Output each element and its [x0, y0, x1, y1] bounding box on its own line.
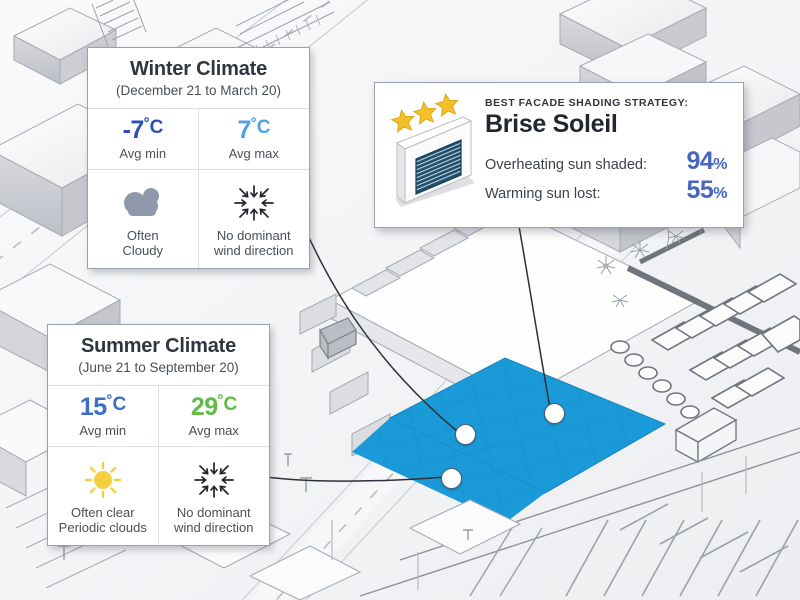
- sun-icon: [52, 458, 154, 502]
- winter-sky-line1: Often: [92, 229, 194, 244]
- strategy-eyebrow: BEST FACADE SHADING STRATEGY:: [485, 97, 727, 109]
- summer-card-subtitle: (June 21 to September 20): [58, 360, 259, 376]
- summer-climate-card[interactable]: Summer Climate (June 21 to September 20)…: [47, 324, 270, 546]
- winter-avg-min-value: -7˚C: [92, 118, 194, 143]
- strategy-body: BEST FACADE SHADING STRATEGY: Brise Sole…: [483, 83, 743, 217]
- winter-sky-cell: Often Cloudy: [88, 170, 199, 268]
- summer-card-title: Summer Climate: [58, 335, 259, 357]
- summer-wind-cell: No dominant wind direction: [159, 447, 270, 545]
- metric-value: 55%: [686, 178, 727, 203]
- summer-sky-line1: Often clear: [52, 506, 154, 521]
- winter-card-subtitle: (December 21 to March 20): [98, 83, 299, 99]
- summer-avg-min-value: 15˚C: [52, 395, 154, 420]
- summer-wind-line1: No dominant: [163, 506, 266, 521]
- metric-label: Warming sun lost:: [485, 186, 601, 202]
- winter-wind-line1: No dominant: [203, 229, 306, 244]
- winter-wind-cell: No dominant wind direction: [199, 170, 310, 268]
- winter-avg-max-label: Avg max: [203, 147, 306, 162]
- winter-card-grid: -7˚C Avg min 7˚C Avg max Often Cloudy: [88, 109, 309, 269]
- winter-avg-min-cell: -7˚C Avg min: [88, 109, 199, 171]
- winter-sky-line2: Cloudy: [92, 244, 194, 259]
- winter-card-title: Winter Climate: [98, 58, 299, 80]
- no-dominant-wind-icon: [163, 458, 266, 502]
- strategy-title: Brise Soleil: [485, 110, 727, 139]
- winter-climate-card[interactable]: Winter Climate (December 21 to March 20)…: [87, 47, 310, 269]
- metric-value: 94%: [686, 149, 727, 174]
- summer-sky-cell: Often clear Periodic clouds: [48, 447, 159, 545]
- metric-row: Warming sun lost: 55%: [485, 178, 727, 203]
- best-shading-strategy-panel[interactable]: BEST FACADE SHADING STRATEGY: Brise Sole…: [374, 82, 744, 228]
- summer-avg-min-label: Avg min: [52, 424, 154, 439]
- summer-sky-line2: Periodic clouds: [52, 521, 154, 536]
- metric-row: Overheating sun shaded: 94%: [485, 149, 727, 174]
- cloudy-icon: [92, 181, 194, 225]
- winter-avg-min-label: Avg min: [92, 147, 194, 162]
- screenshot-root: Winter Climate (December 21 to March 20)…: [0, 0, 800, 600]
- brise-soleil-louver-panel-3d: [383, 91, 483, 221]
- map-marker-2[interactable]: [544, 403, 565, 424]
- map-marker-3[interactable]: [441, 468, 462, 489]
- summer-avg-min-cell: 15˚C Avg min: [48, 386, 159, 448]
- map-marker-1[interactable]: [455, 424, 476, 445]
- winter-card-header: Winter Climate (December 21 to March 20): [88, 48, 309, 109]
- strategy-thumbnail: [375, 83, 483, 226]
- summer-avg-max-cell: 29˚C Avg max: [159, 386, 270, 448]
- summer-wind-line2: wind direction: [163, 521, 266, 536]
- summer-card-header: Summer Climate (June 21 to September 20): [48, 325, 269, 386]
- summer-card-grid: 15˚C Avg min 29˚C Avg max: [48, 386, 269, 546]
- winter-avg-max-value: 7˚C: [203, 118, 306, 143]
- winter-avg-max-cell: 7˚C Avg max: [199, 109, 310, 171]
- summer-avg-max-value: 29˚C: [163, 395, 266, 420]
- metric-label: Overheating sun shaded:: [485, 157, 647, 173]
- no-dominant-wind-icon: [203, 181, 306, 225]
- winter-wind-line2: wind direction: [203, 244, 306, 259]
- summer-avg-max-label: Avg max: [163, 424, 266, 439]
